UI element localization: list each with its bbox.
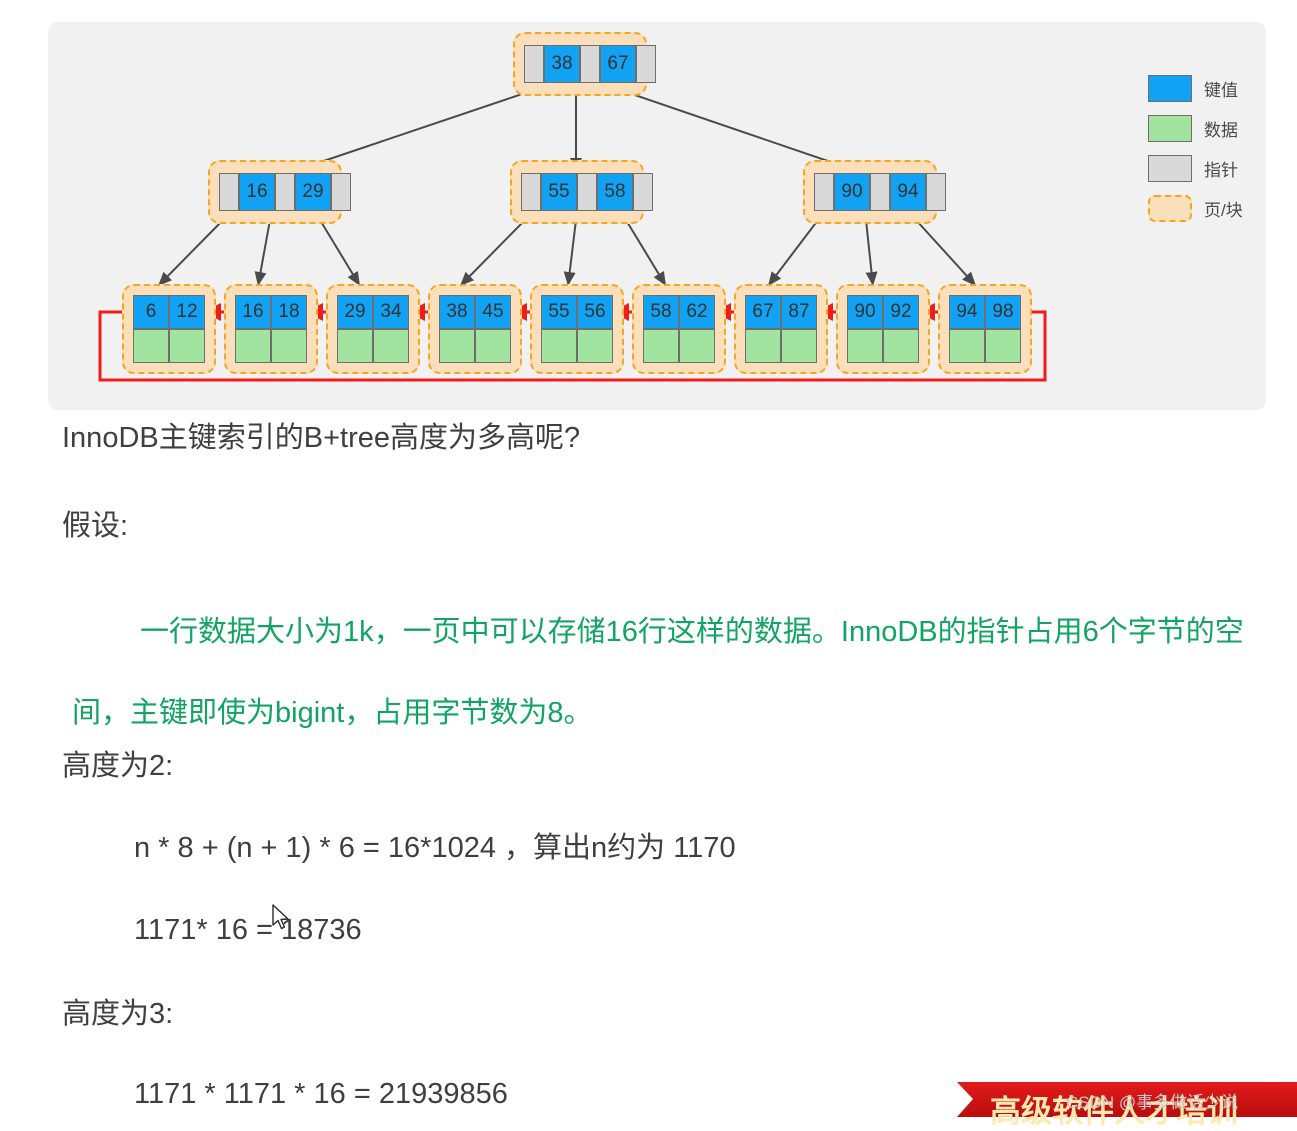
height3-label: 高度为3: [62,1000,173,1029]
leaf-0-data-0 [133,329,169,363]
btree-leaf-page-7: 90 92 [836,284,930,374]
leaf-6-data-1 [781,329,817,363]
leaf-1-data-1 [271,329,307,363]
root-pointer-1 [580,45,600,83]
leaf-8-data-0 [949,329,985,363]
leaf-4-key-0: 55 [541,295,577,329]
leaf-1-key-1: 18 [271,295,307,329]
leaf-4-data-1 [577,329,613,363]
leaf-6-key-0: 67 [745,295,781,329]
key-value-swatch-icon [1148,75,1192,102]
leaf-6-key-1: 87 [781,295,817,329]
leaf-8-key-1: 98 [985,295,1021,329]
root-key-1: 67 [600,45,636,83]
internal-2-key-0: 90 [834,173,870,211]
leaf-2-data-1 [373,329,409,363]
legend-label-page-block: 页/块 [1204,196,1243,221]
legend-label-key-value: 键值 [1204,76,1238,101]
leaf-7-data-0 [847,329,883,363]
root-pointer-2 [636,45,656,83]
btree-leaf-page-2: 29 34 [326,284,420,374]
internal-1-pointer-2 [633,173,653,211]
height2-formula: n * 8 + (n + 1) * 6 = 16*1024 ，算出n约为 117… [134,834,736,863]
internal-0-key-1: 29 [295,173,331,211]
internal-2-key-1: 94 [890,173,926,211]
internal-0-pointer-2 [331,173,351,211]
btree-leaf-page-1: 16 18 [224,284,318,374]
internal-0-key-0: 16 [239,173,275,211]
heading-question: InnoDB主键索引的B+tree高度为多高呢? [62,424,580,453]
leaf-0-key-1: 12 [169,295,205,329]
legend-label-data: 数据 [1204,116,1238,141]
root-pointer-0 [524,45,544,83]
assumption-label: 假设: [62,512,128,541]
leaf-4-data-0 [541,329,577,363]
btree-diagram-panel: 38 67 16 29 55 58 90 94 [48,22,1266,410]
leaf-8-data-1 [985,329,1021,363]
internal-2-pointer-1 [870,173,890,211]
btree-leaf-page-3: 38 45 [428,284,522,374]
leaf-0-data-1 [169,329,205,363]
leaf-3-key-0: 38 [439,295,475,329]
leaf-7-key-1: 92 [883,295,919,329]
internal-0-pointer-1 [275,173,295,211]
internal-2-pointer-0 [814,173,834,211]
internal-0-pointer-0 [219,173,239,211]
page-block-swatch-icon [1148,195,1192,222]
leaf-5-key-0: 58 [643,295,679,329]
leaf-5-data-1 [679,329,715,363]
btree-internal-page-1: 55 58 [510,160,644,224]
btree-leaf-page-8: 94 98 [938,284,1032,374]
legend-item-data: 数据 [1148,112,1263,144]
leaf-6-data-0 [745,329,781,363]
leaf-7-data-1 [883,329,919,363]
leaf-2-key-1: 34 [373,295,409,329]
leaf-4-key-1: 56 [577,295,613,329]
leaf-3-data-0 [439,329,475,363]
internal-1-key-0: 55 [541,173,577,211]
banner-corner-fold-icon [957,1082,973,1117]
leaf-3-data-1 [475,329,511,363]
internal-1-pointer-0 [521,173,541,211]
data-swatch-icon [1148,115,1192,142]
btree-internal-page-2: 90 94 [803,160,937,224]
btree-leaf-page-4: 55 56 [530,284,624,374]
assumption-body: 一行数据大小为1k，一页中可以存储16行这样的数据。InnoDB的指针占用6个字… [72,592,1262,754]
leaf-2-data-0 [337,329,373,363]
root-key-0: 38 [544,45,580,83]
height2-label: 高度为2: [62,752,173,781]
legend-item-pointer: 指针 [1148,152,1263,184]
leaf-1-data-0 [235,329,271,363]
internal-1-pointer-1 [577,173,597,211]
internal-1-key-1: 58 [597,173,633,211]
btree-root-page: 38 67 [513,32,647,96]
legend-item-page-block: 页/块 [1148,192,1263,224]
height2-result: 1171* 16 = 18736 [134,916,362,945]
legend-label-pointer: 指针 [1204,156,1238,181]
diagram-legend: 键值 数据 指针 页/块 [1148,72,1263,232]
leaf-1-key-0: 16 [235,295,271,329]
pointer-swatch-icon [1148,155,1192,182]
leaf-5-data-0 [643,329,679,363]
leaf-7-key-0: 90 [847,295,883,329]
btree-leaf-page-6: 67 87 [734,284,828,374]
btree-leaf-page-0: 6 12 [122,284,216,374]
btree-internal-page-0: 16 29 [208,160,342,224]
leaf-8-key-0: 94 [949,295,985,329]
leaf-0-key-0: 6 [133,295,169,329]
leaf-5-key-1: 62 [679,295,715,329]
leaf-3-key-1: 45 [475,295,511,329]
mouse-cursor-icon [271,904,293,932]
internal-2-pointer-2 [926,173,946,211]
height3-formula: 1171 * 1171 * 16 = 21939856 [134,1080,508,1109]
legend-item-key-value: 键值 [1148,72,1263,104]
leaf-2-key-0: 29 [337,295,373,329]
btree-leaf-page-5: 58 62 [632,284,726,374]
csdn-watermark: CSDN @事多做话少说 [1066,1088,1238,1113]
